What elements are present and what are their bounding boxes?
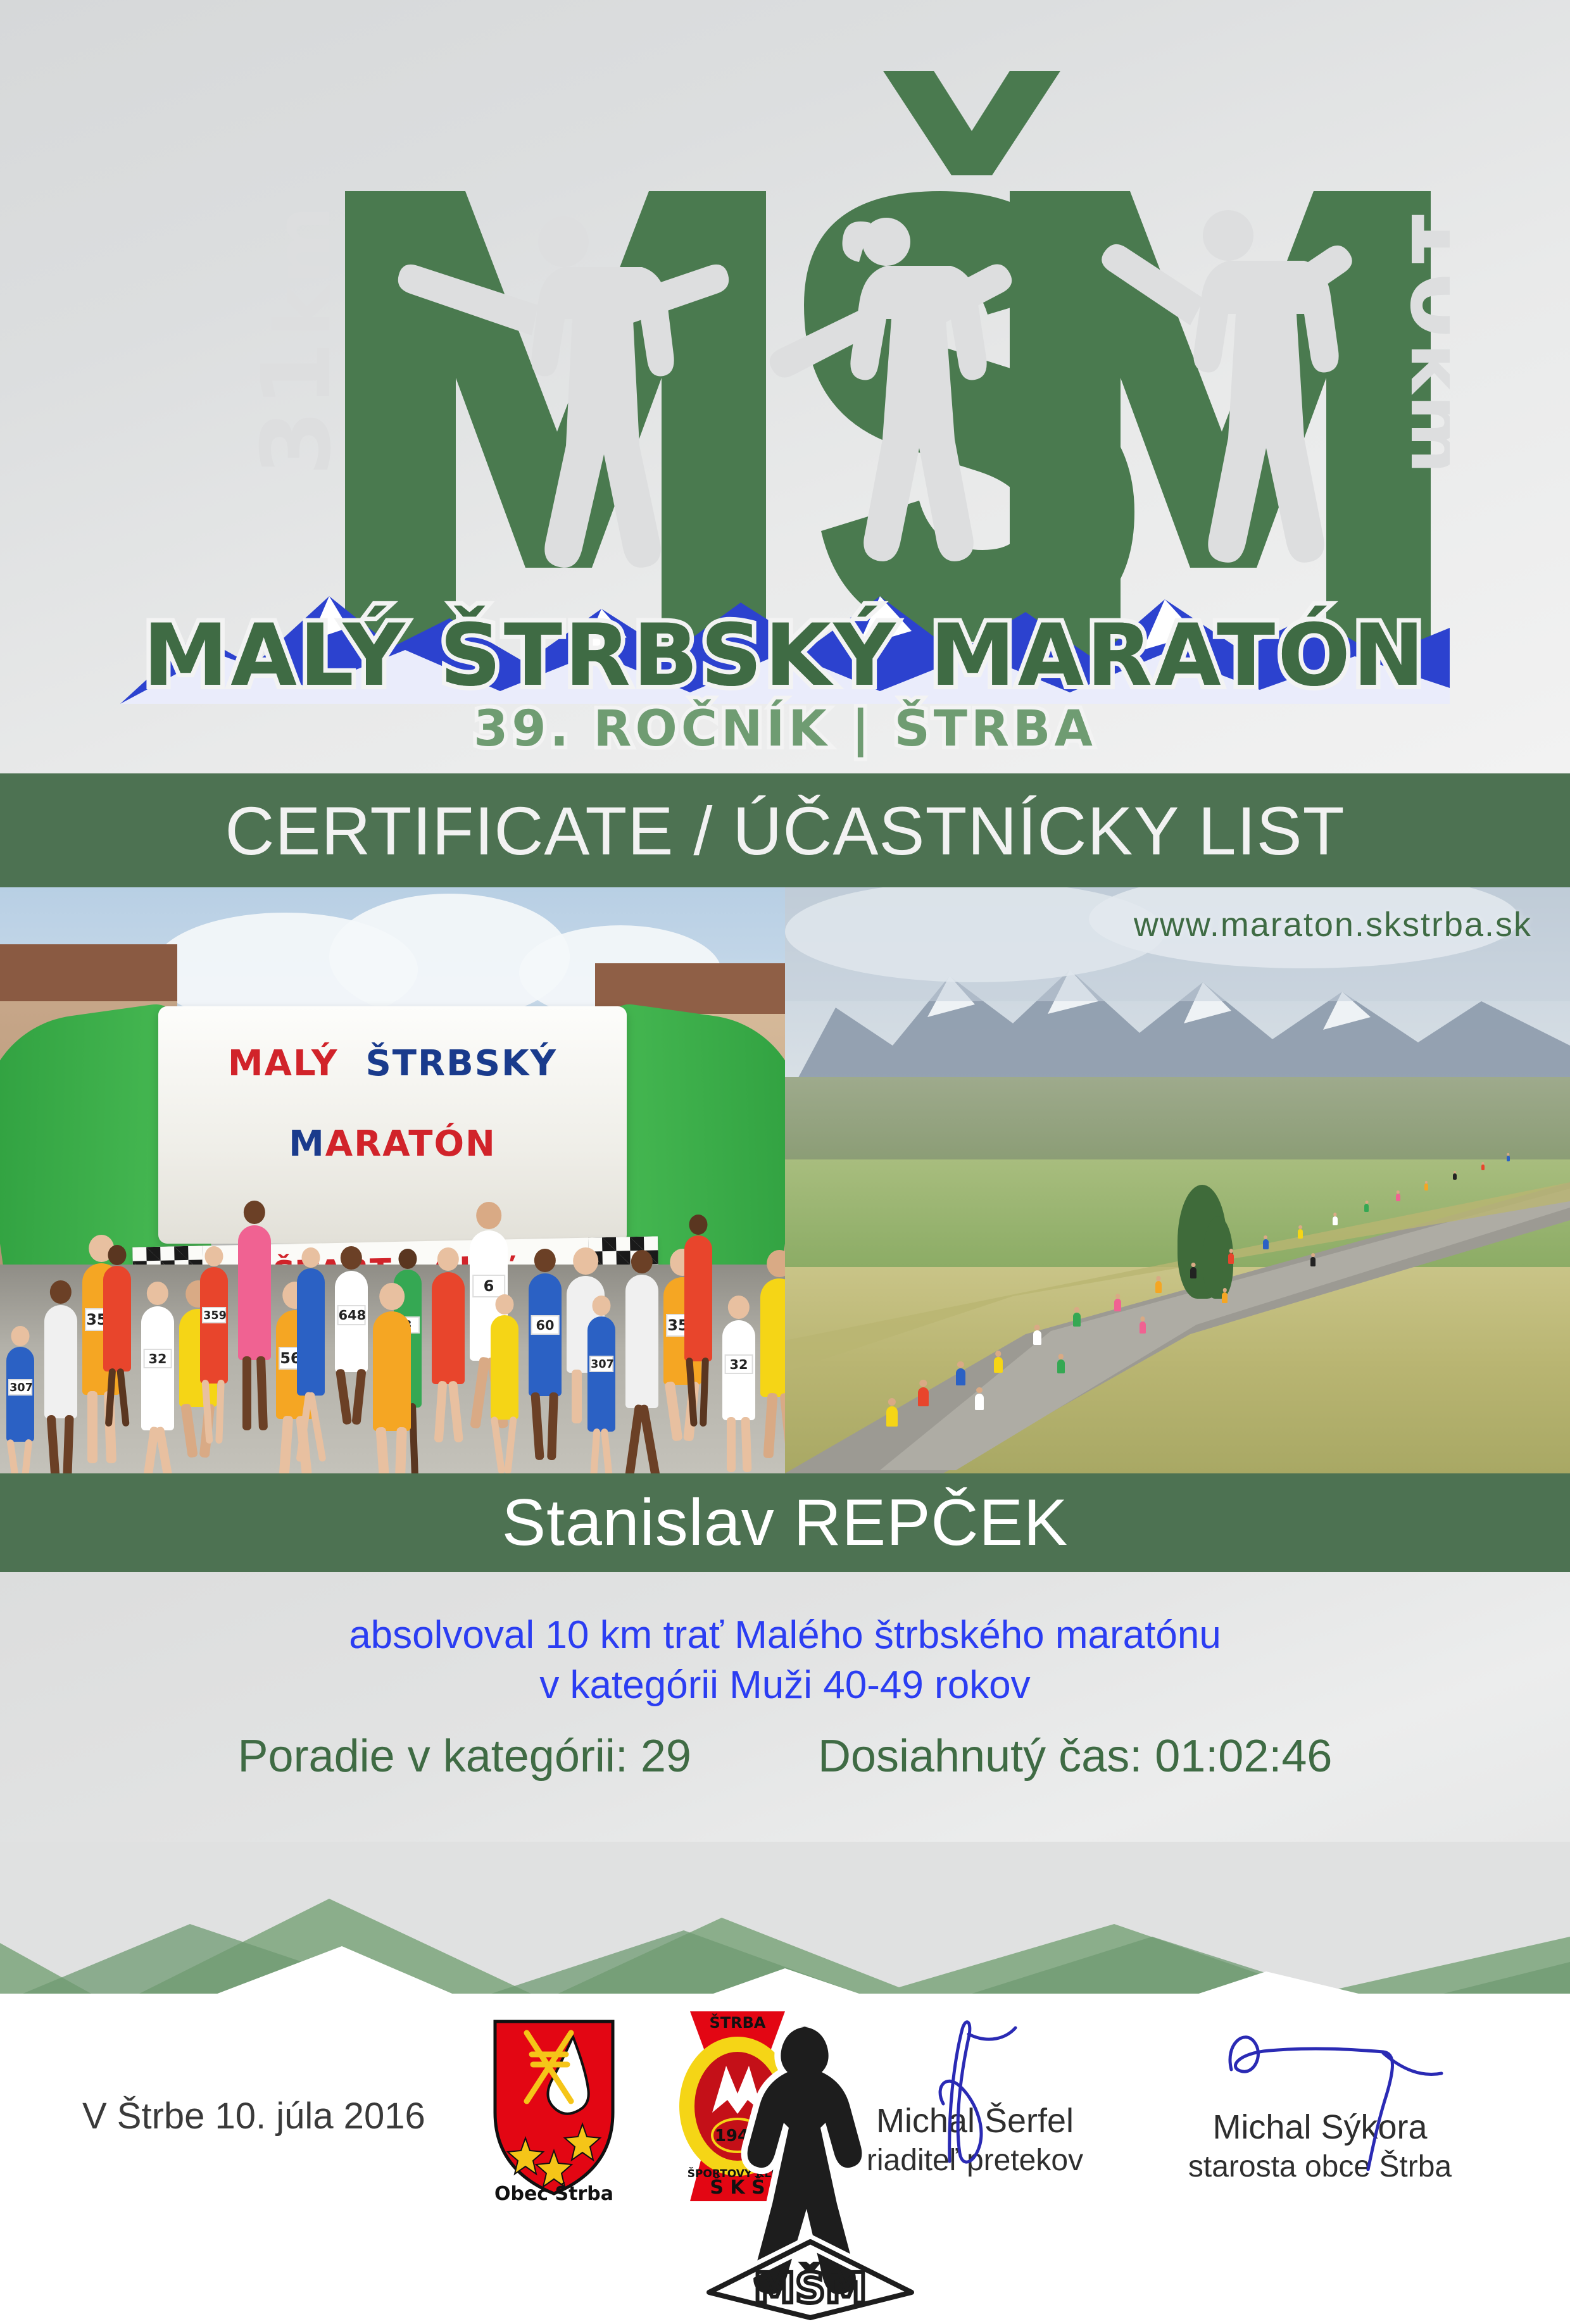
course-runner-head [995,1351,1002,1357]
runner: 359 [200,1267,228,1384]
course-runner [886,1406,898,1427]
achievement-line-1: absolvoval 10 km trať Malého štrbského m… [0,1610,1570,1660]
runner [103,1266,131,1371]
logo-hero: 31 km 10 km MALÝ ŠTRBSKÝ MARATÓN MALÝ ŠT… [0,0,1570,773]
svg-text:31: 31 [242,339,352,476]
runner-legs [204,1380,224,1444]
svg-text:MŠM: MŠM [754,2264,867,2313]
runner-legs [436,1381,460,1442]
runner [625,1275,658,1408]
msm-logo: 31 km 10 km MALÝ ŠTRBSKÝ MARATÓN MALÝ ŠT… [120,33,1450,767]
course-runner-head [1311,1253,1315,1257]
runner-bib: 6 [472,1275,505,1297]
runner [432,1272,465,1384]
runner-legs [591,1428,612,1473]
runner-head [11,1326,29,1346]
course-runner [1481,1165,1485,1170]
runner-head [379,1283,405,1310]
course-runner-head [1191,1263,1196,1267]
certificate-title: CERTIFICATE / ÚČASTNÍCKY LIST [225,791,1345,870]
runner-head [495,1294,513,1315]
course-runner-head [1298,1225,1302,1229]
participant-name: Stanislav REPČEK [502,1485,1069,1561]
runner-bib: 32 [725,1354,753,1374]
signature-scribble-icon [1193,2025,1447,2171]
runner [44,1305,77,1418]
runner-head [573,1247,598,1275]
runner-legs [494,1416,515,1473]
course-runner [1057,1359,1065,1373]
runner-legs [378,1427,405,1473]
course-runner [1155,1281,1162,1293]
runner [297,1268,325,1396]
runner-legs [49,1415,72,1473]
runner [760,1278,785,1397]
runner [373,1311,411,1431]
course-runner [1310,1257,1316,1266]
runner-head [476,1202,501,1229]
runner: 60 [529,1273,562,1396]
runner-bib: 307 [589,1356,613,1372]
photo-start-line: MALÝ ŠTRBSKÝ MARATÓN ŠTART - CIEĽ 307358… [0,887,785,1473]
runner [684,1235,712,1361]
brand-subtitle: 39. ROČNÍK | ŠTRBA [120,701,1450,758]
course-runner-head [1365,1201,1368,1204]
certificate-banner: CERTIFICATE / ÚČASTNÍCKY LIST [0,773,1570,887]
runner-head [204,1246,223,1266]
race-road [785,1182,1570,1473]
runner-legs [688,1358,708,1427]
course-runner-head [1507,1153,1509,1155]
brand-title: MALÝ ŠTRBSKÝ MARATÓN [120,606,1450,705]
runner-legs [630,1404,653,1473]
runner-bib: 60 [531,1315,560,1335]
runner-legs [533,1392,556,1460]
msm-runner-badge-icon: MŠM [696,2020,924,2324]
runner [238,1225,271,1360]
course-runner-head [1034,1325,1040,1330]
course-runner-head [1397,1190,1400,1194]
participant-name-banner: Stanislav REPČEK [0,1473,1570,1572]
runner-bib: 359 [202,1307,226,1323]
runner-legs [146,1427,169,1473]
runner-legs [301,1392,321,1462]
course-runner [1364,1204,1369,1212]
course-runner-head [1482,1162,1484,1164]
runner [491,1315,518,1420]
course-runner [1333,1216,1338,1225]
course-runner [918,1387,929,1406]
runner-legs [242,1356,266,1430]
result-body: absolvoval 10 km trať Malého štrbského m… [0,1572,1570,1873]
course-runner [956,1368,965,1385]
runner-legs [727,1417,750,1472]
course-runner [1263,1239,1269,1249]
runner: 648 [335,1271,368,1372]
arch-banner: MALÝ ŠTRBSKÝ MARATÓN [158,1006,627,1244]
achievement-text: absolvoval 10 km trať Malého štrbského m… [0,1610,1570,1711]
course-runner-head [1454,1171,1456,1173]
runner: 32 [722,1320,755,1420]
course-runner [1507,1156,1510,1161]
issue-date: V Štrbe 10. júla 2016 [82,2095,425,2137]
course-runner [1222,1292,1228,1303]
runner-head [301,1247,320,1268]
runner-legs [339,1369,363,1425]
course-runner [1228,1253,1234,1264]
roof-left [0,944,177,1001]
obec-strba-crest-icon: Obec Štrba [487,2018,620,2201]
course-runner-head [976,1387,983,1394]
category-rank: Poradie v kategórii: 29 [238,1730,691,1782]
runner-legs [107,1368,127,1427]
course-runner [1453,1173,1457,1180]
course-runner [1033,1330,1041,1345]
runner-bib: 307 [8,1379,32,1396]
certificate-page: 31 km 10 km MALÝ ŠTRBSKÝ MARATÓN MALÝ ŠT… [0,0,1570,2220]
svg-text:km: km [1393,343,1450,475]
obec-crest-label: Obec Štrba [494,2182,613,2201]
runner-head [108,1245,126,1265]
achievement-line-2: v kategórii Muži 40-49 rokov [0,1660,1570,1710]
result-stats: Poradie v kategórii: 29 Dosiahnutý čas: … [0,1730,1570,1782]
runner-bib: 32 [144,1349,172,1368]
runner-bib: 648 [337,1305,366,1325]
arch-banner-line2: MARATÓN [158,1123,627,1165]
runner-head [398,1249,417,1269]
course-runner [1396,1194,1400,1201]
svg-text:10: 10 [1389,204,1450,341]
photo-course: www.maraton.skstrba.sk [785,887,1570,1473]
runner: 307 [587,1316,615,1432]
runner-head [689,1215,707,1235]
course-runner [1298,1229,1303,1239]
runner-legs [765,1393,785,1458]
course-runner [975,1394,984,1410]
course-runner [1424,1184,1428,1190]
finish-time: Dosiahnutý čas: 01:02:46 [818,1730,1333,1782]
course-runner [1114,1299,1121,1311]
course-runner-head [1115,1294,1121,1299]
svg-text:km: km [260,204,348,337]
arch-banner-line1: MALÝ ŠTRBSKÝ [158,1043,627,1084]
runner: 307 [6,1347,34,1442]
runner: 32 [141,1306,174,1430]
website-url[interactable]: www.maraton.skstrba.sk [1134,905,1532,944]
course-runner [994,1357,1003,1373]
signature-block-mayor: Michal Sýkora starosta obce Štrba [1171,2108,1469,2184]
course-runner [1073,1313,1081,1327]
runner-legs [10,1439,30,1474]
runner-head [592,1296,610,1316]
course-runner [1190,1267,1196,1278]
course-runner [1140,1321,1146,1334]
photo-strip: MALÝ ŠTRBSKÝ MARATÓN ŠTART - CIEĽ 307358… [0,887,1570,1473]
